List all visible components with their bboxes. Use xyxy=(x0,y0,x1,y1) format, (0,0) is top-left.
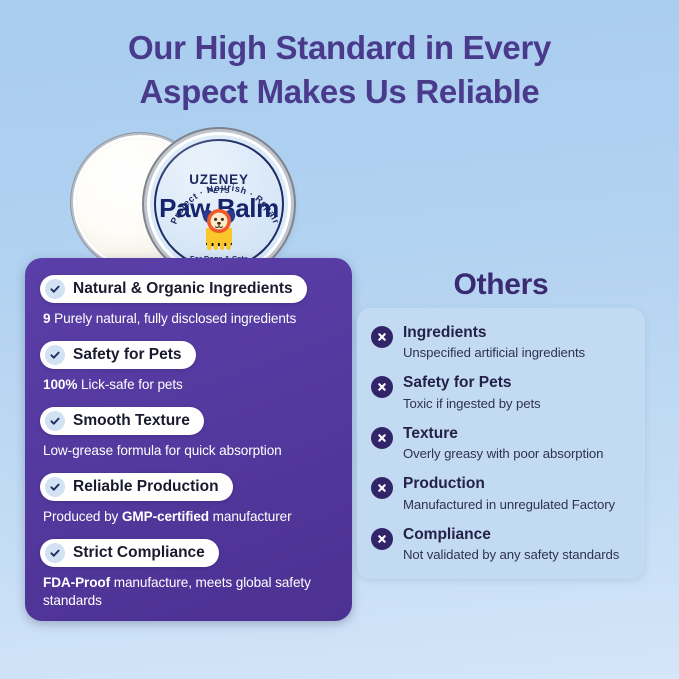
cross-icon xyxy=(371,477,393,499)
check-icon xyxy=(45,543,65,563)
drawback-label: Compliance xyxy=(403,526,619,544)
drawback-label: Safety for Pets xyxy=(403,374,541,392)
drawback-description: Not validated by any safety standards xyxy=(403,546,619,563)
benefit-description-highlight: 100% xyxy=(43,377,77,392)
drawback-description: Manufactured in unregulated Factory xyxy=(403,496,615,513)
benefit-item-smooth-texture: Smooth Texture Low-grease formula for qu… xyxy=(40,407,337,460)
benefit-description-text: Purely natural, fully disclosed ingredie… xyxy=(50,311,296,326)
benefit-description-text: Lick-safe for pets xyxy=(77,377,182,392)
cross-icon xyxy=(371,427,393,449)
benefit-label: Safety for Pets xyxy=(73,346,182,364)
others-drawbacks-panel: Ingredients Unspecified artificial ingre… xyxy=(357,308,645,579)
benefit-description-highlight: GMP-certified xyxy=(122,509,209,524)
cross-icon xyxy=(371,528,393,550)
product-tin-front: Protect · Nourish · Repair UZENEY PETS P… xyxy=(150,135,288,273)
drawback-description: Toxic if ingested by pets xyxy=(403,395,541,412)
drawback-label: Texture xyxy=(403,425,603,443)
benefit-description-highlight: FDA-Proof xyxy=(43,575,110,590)
product-label: Protect · Nourish · Repair UZENEY PETS P… xyxy=(154,139,284,269)
benefit-description: FDA-Proof manufacture, meets global safe… xyxy=(43,574,337,610)
others-heading: Others xyxy=(357,268,645,302)
benefit-label: Smooth Texture xyxy=(73,412,190,430)
benefit-badge: Natural & Organic Ingredients xyxy=(40,275,307,303)
benefit-description-text: Low-grease formula for quick absorption xyxy=(43,443,282,458)
benefit-item-natural-organic-ingredients: Natural & Organic Ingredients 9 Purely n… xyxy=(40,275,337,328)
benefit-item-reliable-production: Reliable Production Produced by GMP-cert… xyxy=(40,473,337,526)
benefit-badge: Reliable Production xyxy=(40,473,233,501)
benefit-description: Low-grease formula for quick absorption xyxy=(43,442,337,460)
lion-mascot-icon xyxy=(193,207,245,253)
benefit-label: Natural & Organic Ingredients xyxy=(73,280,293,298)
drawback-item-compliance: Compliance Not validated by any safety s… xyxy=(371,526,631,563)
benefit-description: 100% Lick-safe for pets xyxy=(43,376,337,394)
page-title-line-1: Our High Standard in Every xyxy=(0,26,679,70)
cross-icon xyxy=(371,326,393,348)
drawback-description: Overly greasy with poor absorption xyxy=(403,445,603,462)
check-icon xyxy=(45,477,65,497)
drawback-item-production: Production Manufactured in unregulated F… xyxy=(371,475,631,512)
product-image: Protect · Nourish · Repair UZENEY PETS P… xyxy=(72,132,294,278)
benefit-badge: Strict Compliance xyxy=(40,539,219,567)
benefit-description: Produced by GMP-certified manufacturer xyxy=(43,508,337,526)
benefit-label: Strict Compliance xyxy=(73,544,205,562)
check-icon xyxy=(45,411,65,431)
benefit-description-prefix: Produced by xyxy=(43,509,122,524)
page-title: Our High Standard in Every Aspect Makes … xyxy=(0,26,679,113)
drawback-item-ingredients: Ingredients Unspecified artificial ingre… xyxy=(371,324,631,361)
benefit-item-strict-compliance: Strict Compliance FDA-Proof manufacture,… xyxy=(40,539,337,610)
drawback-item-safety-for-pets: Safety for Pets Toxic if ingested by pet… xyxy=(371,374,631,411)
drawback-label: Ingredients xyxy=(403,324,585,342)
benefit-description: 9 Purely natural, fully disclosed ingred… xyxy=(43,310,337,328)
benefit-badge: Smooth Texture xyxy=(40,407,204,435)
check-icon xyxy=(45,279,65,299)
benefit-badge: Safety for Pets xyxy=(40,341,196,369)
benefit-item-safety-for-pets: Safety for Pets 100% Lick-safe for pets xyxy=(40,341,337,394)
drawback-description: Unspecified artificial ingredients xyxy=(403,344,585,361)
cross-icon xyxy=(371,376,393,398)
product-brand: UZENEY xyxy=(156,172,282,187)
check-icon xyxy=(45,345,65,365)
benefit-label: Reliable Production xyxy=(73,478,219,496)
ours-benefits-panel: Natural & Organic Ingredients 9 Purely n… xyxy=(25,258,352,621)
benefit-description-text: manufacturer xyxy=(209,509,292,524)
drawback-label: Production xyxy=(403,475,615,493)
drawback-item-texture: Texture Overly greasy with poor absorpti… xyxy=(371,425,631,462)
page-title-line-2: Aspect Makes Us Reliable xyxy=(0,70,679,114)
